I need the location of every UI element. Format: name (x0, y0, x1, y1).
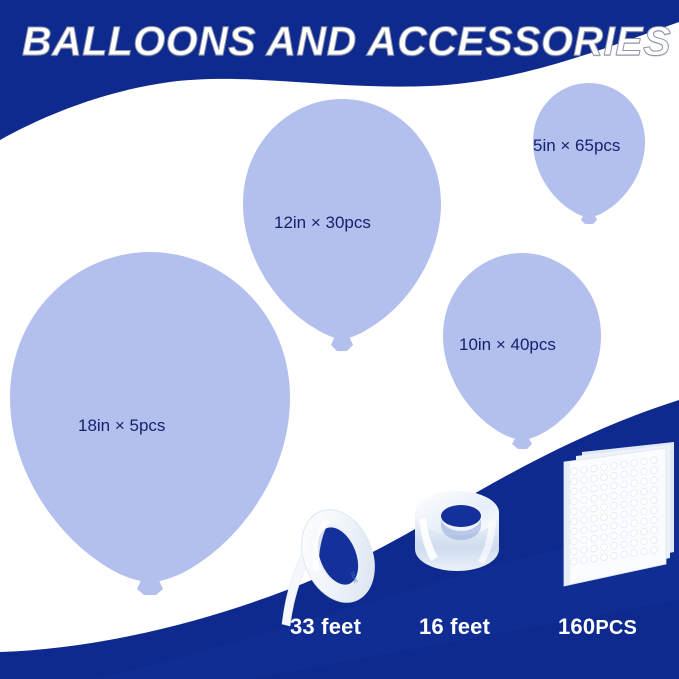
glue-dot-sheet-unit: PCS (595, 617, 637, 639)
balloon-10in-label: 10in × 40pcs (459, 335, 556, 355)
balloon-18in-label: 18in × 5pcs (78, 416, 165, 436)
balloon-10in-knot (512, 437, 532, 449)
glue-dot-sheet (556, 440, 678, 592)
balloon-5in-label: 5in × 65pcs (533, 136, 620, 156)
ribbon-roll: TAPE (278, 498, 390, 630)
ribbon-roll-caption: 33 feet (290, 614, 361, 640)
tape-roll-caption: 16 feet (419, 614, 490, 640)
tape-roll (405, 489, 509, 589)
balloon-12in-label: 12in × 30pcs (274, 213, 371, 233)
balloon-5in-knot (581, 214, 597, 224)
product-infographic: BALLOONS AND ACCESSORIES 18in × 5pcs 12i… (0, 0, 679, 679)
glue-dot-sheet-caption: 160PCS (558, 614, 637, 640)
glue-dot-sheet-count: 160 (558, 614, 595, 639)
balloon-10in: 10in × 40pcs (440, 250, 604, 450)
balloon-12in-knot (331, 336, 353, 351)
balloon-5in: 5in × 65pcs (530, 80, 648, 225)
tape-roll-hole (441, 505, 481, 527)
glue-sheet-edge (564, 461, 570, 586)
balloon-12in: 12in × 30pcs (240, 96, 444, 352)
